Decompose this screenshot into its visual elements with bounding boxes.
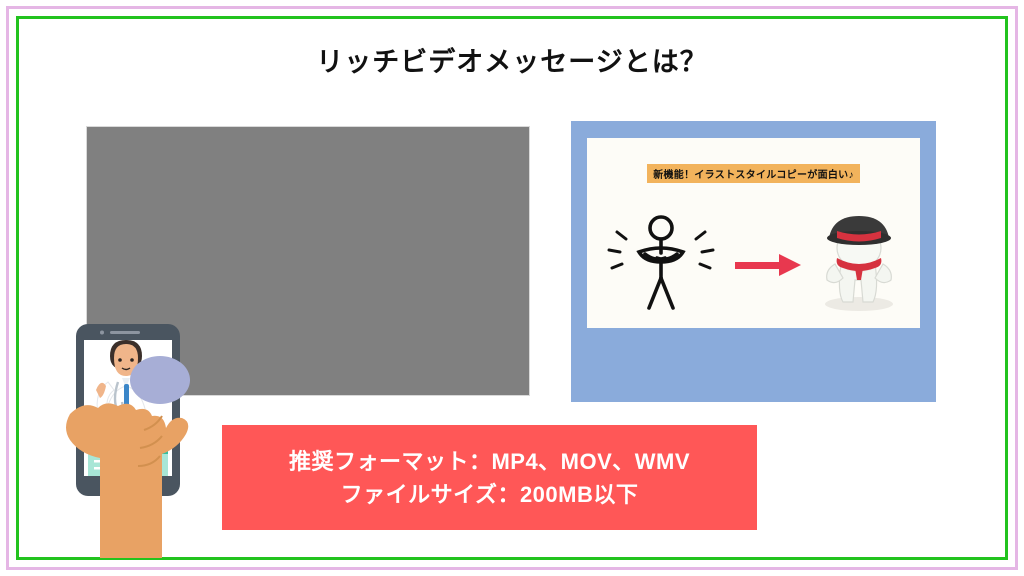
doctor-eye-right bbox=[130, 358, 134, 362]
line-art-figure-icon bbox=[609, 217, 713, 308]
headline-wrap: 新機能！イラストスタイルコピーが面白い♪ bbox=[587, 164, 920, 183]
headline-text: 新機能！イラストスタイルコピーが面白い♪ bbox=[647, 164, 860, 183]
admin-page-subtitle: 動画を使って視覚的にアピールできるメッセージです。 bbox=[101, 158, 515, 166]
banner-line-1: 推奨フォーマット：MP4、MOV、WMV bbox=[289, 445, 690, 478]
upload-modal-footer: 閉じる bbox=[297, 333, 458, 352]
comparison-svg bbox=[587, 206, 920, 316]
admin-header: リッチビデオメッセージ 動画を使って視覚的にアピールできるメッセージです。 bbox=[87, 127, 529, 174]
upload-modal-header: 動画をアップロード × bbox=[297, 217, 458, 235]
id-label: ID bbox=[101, 220, 161, 229]
banner-line-2: ファイルサイズ：200MB以下 bbox=[341, 478, 639, 511]
doctor-eye-left bbox=[118, 358, 122, 362]
blue-panel: 新機能！イラストスタイルコピーが面白い♪ bbox=[571, 121, 936, 402]
phone-illustration-svg bbox=[52, 318, 262, 558]
dropzone-line-1: ここにファイルをドラッグ＆ドロップ bbox=[326, 263, 428, 272]
save-button[interactable]: 保存 bbox=[389, 375, 445, 388]
phone-camera bbox=[100, 331, 104, 335]
close-icon[interactable]: × bbox=[448, 222, 452, 229]
slide-root: リッチビデオメッセージとは？ リッチビデオメッセージ 動画を使って視覚的にアピー… bbox=[0, 0, 1024, 576]
modal-close-button[interactable]: 閉じる bbox=[357, 335, 397, 352]
file-select-controls: ファイルを選択 + bbox=[341, 290, 414, 307]
dropzone-line-2: または bbox=[368, 275, 386, 284]
format-info-banner: 推奨フォーマット：MP4、MOV、WMV ファイルサイズ：200MB以下 bbox=[222, 425, 757, 530]
upload-modal-title: 動画をアップロード bbox=[303, 221, 357, 230]
transform-arrow-icon bbox=[735, 254, 801, 276]
illustration-card: 新機能！イラストスタイルコピーが面白い♪ bbox=[587, 138, 920, 328]
admin-page-title: リッチビデオメッセージ bbox=[101, 139, 515, 154]
add-file-button[interactable]: + bbox=[399, 290, 414, 307]
item-name-label: アイテム名 bbox=[101, 239, 161, 251]
id-value: 作成後に発行 bbox=[161, 220, 197, 232]
page-title: リッチビデオメッセージとは？ bbox=[0, 40, 1024, 79]
select-file-button[interactable]: ファイルを選択 bbox=[341, 290, 399, 307]
hand-holding-smartphone-illustration bbox=[52, 318, 262, 558]
action-button-label: アクションボタン bbox=[195, 303, 243, 312]
style-copy-comparison bbox=[587, 206, 920, 316]
upload-modal: 動画をアップロード × ここにファイルをドラッグ＆ドロップ または ファイルを選… bbox=[295, 215, 460, 360]
stylized-character-icon bbox=[825, 216, 893, 311]
file-dropzone[interactable]: ここにファイルをドラッグ＆ドロップ または ファイルを選択 + bbox=[304, 242, 451, 328]
speech-bubble bbox=[130, 356, 190, 404]
admin-tab-bar[interactable] bbox=[87, 183, 529, 210]
phone-speaker bbox=[110, 331, 140, 334]
